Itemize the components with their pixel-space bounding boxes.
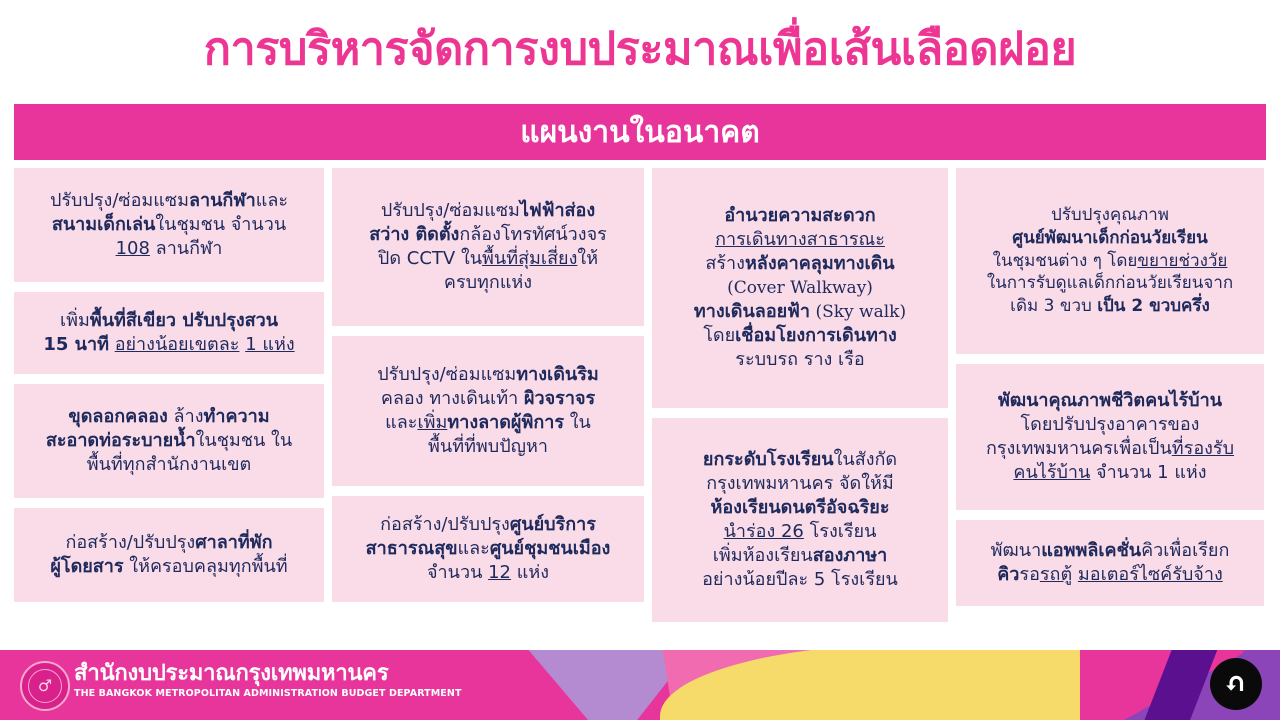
- card-text-run: ทางเดินริม: [516, 364, 598, 385]
- card-text-run: และ: [256, 190, 288, 211]
- card-line: ขุดลอกคลอง ล้างทำความ: [22, 405, 316, 429]
- card-line: เพิ่มพื้นที่สีเขียว ปรับปรุงสวน: [22, 309, 316, 333]
- card-text-run: อย่างน้อยเขตละ: [115, 334, 240, 355]
- card-canal-walkway[interactable]: ปรับปรุง/ซ่อมแซมทางเดินริมคลอง ทางเดินเท…: [332, 336, 644, 486]
- card-text-run: ล้าง: [168, 406, 204, 427]
- card-line: ปิด CCTV ในพื้นที่สุ่มเสี่ยงให้: [340, 247, 636, 271]
- card-text-run: ไฟฟ้าส่อง: [520, 200, 595, 221]
- card-text-run: เชื่อมโยงการเดินทาง: [735, 325, 897, 346]
- card-public-transport[interactable]: อำนวยความสะดวกการเดินทางสาธารณะสร้างหลัง…: [652, 168, 948, 408]
- card-text-run: สะอาดท่อระบายน้ำ: [46, 430, 196, 451]
- card-line: พื้นที่ทุกสำนักงานเขต: [22, 453, 316, 477]
- bma-seal-inner: ♂: [28, 669, 62, 703]
- card-text-run: จำนวน: [427, 562, 488, 583]
- card-line: ปรับปรุง/ซ่อมแซมไฟฟ้าส่อง: [340, 199, 636, 223]
- card-text-run: และ: [458, 538, 490, 559]
- card-text-run: มอเตอร์ไซค์รับจ้าง: [1078, 564, 1223, 585]
- card-line: เดิม 3 ขวบ เป็น 2 ขวบครึ่ง: [964, 295, 1256, 318]
- card-text-run: คิวเพื่อเรียก: [1141, 540, 1229, 561]
- card-line: สะอาดท่อระบายน้ำในชุมชน ใน: [22, 429, 316, 453]
- card-text-run: รอ: [1019, 564, 1039, 585]
- card-line: ศูนย์พัฒนาเด็กก่อนวัยเรียน: [964, 227, 1256, 250]
- card-text-run: กรุงเทพมหานคร จัดให้มี: [706, 473, 894, 494]
- card-text-run: ขยายช่วงวัย: [1137, 251, 1227, 271]
- card-queue-app[interactable]: พัฒนาแอพพลิเคชั่นคิวเพื่อเรียกคิวรอรถตู้…: [956, 520, 1264, 606]
- card-text-run: สนามเด็กเล่น: [52, 214, 156, 235]
- card-text-run: หลังคาคลุมทางเดิน: [745, 253, 895, 274]
- card-text-run: 12: [488, 562, 511, 583]
- card-text-run: พื้นที่สีเขียว ปรับปรุงสวน: [90, 310, 278, 331]
- card-text-run: ผิวจราจร: [524, 388, 595, 409]
- card-line: สนามเด็กเล่นในชุมชน จำนวน: [22, 213, 316, 237]
- card-text-run: ในชุมชนต่าง ๆ โดย: [993, 251, 1138, 271]
- card-text-run: เพิ่มห้องเรียน: [713, 545, 813, 566]
- card-line: กรุงเทพมหานครเพื่อเป็นที่รองรับ: [964, 437, 1256, 461]
- card-line: ยกระดับโรงเรียนในสังกัด: [660, 448, 940, 472]
- bma-seal-icon: ♂: [20, 661, 70, 711]
- card-line: โดยเชื่อมโยงการเดินทาง: [660, 324, 940, 348]
- card-text-run: เดิม 3 ขวบ: [1010, 296, 1097, 316]
- card-text-run: คนไร้บ้าน: [1013, 462, 1090, 483]
- card-line: ผู้โดยสาร ให้ครอบคลุมทุกพื้นที่: [22, 555, 316, 579]
- card-text-run: ที่รองรับ: [1172, 438, 1234, 459]
- card-line: จำนวน 12 แห่ง: [340, 561, 636, 585]
- page-title: การบริหารจัดการงบประมาณเพื่อเส้นเลือดฝอย: [0, 24, 1280, 74]
- card-line: คลอง ทางเดินเท้า ผิวจราจร: [340, 387, 636, 411]
- card-text-run: พื้นที่สุ่มเสี่ยง: [482, 248, 577, 269]
- card-text-run: ทางลาดผู้พิการ: [447, 412, 564, 433]
- column-1: ปรับปรุง/ซ่อมแซมลานกีฬาและสนามเด็กเล่นใน…: [14, 168, 324, 628]
- card-text-run: กล้องโทรทัศน์วงจร: [459, 224, 606, 245]
- card-text-run: นำร่อง 26: [724, 521, 804, 542]
- card-text-run: แอพพลิเคชั่น: [1041, 540, 1141, 561]
- card-text-run: โรงเรียน: [804, 521, 877, 542]
- card-text-run: ยกระดับโรงเรียน: [703, 449, 834, 470]
- footer-org-en: THE BANGKOK METROPOLITAN ADMINISTRATION …: [74, 688, 462, 699]
- card-text-run: ขุดลอกคลอง: [68, 406, 167, 427]
- card-line: การเดินทางสาธารณะ: [660, 228, 940, 252]
- card-text-run: ห้องเรียนดนตรีอัจฉริยะ: [711, 497, 890, 518]
- column-4: ปรับปรุงคุณภาพศูนย์พัฒนาเด็กก่อนวัยเรียน…: [956, 168, 1264, 628]
- card-school-upgrade[interactable]: ยกระดับโรงเรียนในสังกัดกรุงเทพมหานคร จัด…: [652, 418, 948, 622]
- card-text-run: ปรับปรุง/ซ่อมแซม: [381, 200, 520, 221]
- card-text-run: เพิ่ม: [417, 412, 447, 433]
- card-bus-shelter[interactable]: ก่อสร้าง/ปรับปรุงศาลาที่พักผู้โดยสาร ให้…: [14, 508, 324, 602]
- card-text-run: อำนวยความสะดวก: [724, 205, 875, 226]
- card-text-run: สาธารณสุข: [366, 538, 458, 559]
- card-text-run: พื้นที่ทุกสำนักงานเขต: [87, 454, 251, 475]
- card-line: โดยปรับปรุงอาคารของ: [964, 413, 1256, 437]
- card-line: ก่อสร้าง/ปรับปรุงศาลาที่พัก: [22, 531, 316, 555]
- card-line: ห้องเรียนดนตรีอัจฉริยะ: [660, 496, 940, 520]
- card-line: ปรับปรุง/ซ่อมแซมลานกีฬาและ: [22, 189, 316, 213]
- card-text-run: เพิ่ม: [60, 310, 90, 331]
- card-text-run: พัฒนา: [991, 540, 1042, 561]
- card-line: เพิ่มห้องเรียนสองภาษา: [660, 544, 940, 568]
- card-text-run: 1 แห่ง: [245, 334, 294, 355]
- card-text-run: ปิด CCTV: [378, 248, 461, 269]
- card-text-run: 108: [116, 238, 150, 259]
- column-2: ปรับปรุง/ซ่อมแซมไฟฟ้าส่องสว่าง ติดตั้งกล…: [332, 168, 644, 628]
- footer-bar: ♂ สำนักงบประมาณกรุงเทพมหานคร THE BANGKOK…: [0, 650, 1280, 720]
- card-line: กรุงเทพมหานคร จัดให้มี: [660, 472, 940, 496]
- card-sports-ground[interactable]: ปรับปรุง/ซ่อมแซมลานกีฬาและสนามเด็กเล่นใน…: [14, 168, 324, 282]
- card-text-run: การเดินทางสาธารณะ: [715, 229, 885, 250]
- card-text-run: ให้: [577, 248, 598, 269]
- card-text-run: ปรับปรุง/ซ่อมแซม: [377, 364, 516, 385]
- card-line: นำร่อง 26 โรงเรียน: [660, 520, 940, 544]
- card-text-run: ใน: [564, 412, 591, 433]
- section-header-label: แผนงานในอนาคต: [520, 109, 760, 156]
- card-line: พื้นที่ที่พบปัญหา: [340, 435, 636, 459]
- card-line: ปรับปรุงคุณภาพ: [964, 204, 1256, 227]
- card-text-run: จำนวน 1 แห่ง: [1090, 462, 1206, 483]
- card-line: (Cover Walkway): [660, 276, 940, 300]
- card-text-run: (Cover Walkway): [727, 278, 873, 298]
- card-canal-dredging[interactable]: ขุดลอกคลอง ล้างทำความสะอาดท่อระบายน้ำในช…: [14, 384, 324, 498]
- card-text-run: คลอง ทางเดินเท้า: [381, 388, 524, 409]
- card-text-run: ปรับปรุงคุณภาพ: [1051, 205, 1169, 225]
- card-line: สาธารณสุขและศูนย์ชุมชนเมือง: [340, 537, 636, 561]
- card-text-run: โดย: [703, 325, 735, 346]
- card-text-run: สว่าง ติดตั้ง: [369, 224, 459, 245]
- card-text-run: ในชุมชน จำนวน: [155, 214, 286, 235]
- footer-org-th: สำนักงบประมาณกรุงเทพมหานคร: [74, 662, 462, 686]
- card-line: ก่อสร้าง/ปรับปรุงศูนย์บริการ: [340, 513, 636, 537]
- card-text-run: ระบบรถ ราง เรือ: [735, 349, 864, 370]
- card-text-run: ในการรับดูแลเด็กก่อนวัยเรียนจาก: [987, 273, 1233, 293]
- back-button[interactable]: [1210, 658, 1262, 710]
- card-line: พัฒนาคุณภาพชีวิตคนไร้บ้าน: [964, 389, 1256, 413]
- card-text-run: ลานกีฬา: [150, 238, 222, 259]
- card-text-run: ศูนย์ชุมชนเมือง: [490, 538, 611, 559]
- card-text-run: สองภาษา: [813, 545, 888, 566]
- card-text-run: (Sky walk): [810, 302, 906, 322]
- card-text-run: รถตู้: [1040, 564, 1072, 585]
- card-text-run: พัฒนาคุณภาพชีวิตคนไร้บ้าน: [998, 390, 1222, 411]
- card-text-run: ครบทุกแห่ง: [444, 272, 532, 293]
- card-line: สร้างหลังคาคลุมทางเดิน: [660, 252, 940, 276]
- card-line: คนไร้บ้าน จำนวน 1 แห่ง: [964, 461, 1256, 485]
- card-text-run: ในสังกัด: [834, 449, 897, 470]
- card-text-run: และ: [385, 412, 417, 433]
- card-text-run: ศูนย์พัฒนาเด็กก่อนวัยเรียน: [1012, 228, 1207, 248]
- card-line: คิวรอรถตู้ มอเตอร์ไซค์รับจ้าง: [964, 563, 1256, 587]
- card-line: พัฒนาแอพพลิเคชั่นคิวเพื่อเรียก: [964, 539, 1256, 563]
- card-text-run: ทางเดินลอยฟ้า: [694, 301, 810, 322]
- card-text-run: ก่อสร้าง/ปรับปรุง: [380, 514, 510, 535]
- card-line: 15 นาที อย่างน้อยเขตละ 1 แห่ง: [22, 333, 316, 357]
- card-text-run: โดยปรับปรุงอาคารของ: [1021, 414, 1200, 435]
- card-line: ครบทุกแห่ง: [340, 271, 636, 295]
- back-arrow-icon: [1221, 669, 1251, 699]
- card-homeless-quality[interactable]: พัฒนาคุณภาพชีวิตคนไร้บ้านโดยปรับปรุงอาคา…: [956, 364, 1264, 510]
- card-line: อำนวยความสะดวก: [660, 204, 940, 228]
- card-text-run: 15 นาที: [43, 334, 109, 355]
- card-line: สว่าง ติดตั้งกล้องโทรทัศน์วงจร: [340, 223, 636, 247]
- column-3: อำนวยความสะดวกการเดินทางสาธารณะสร้างหลัง…: [652, 168, 948, 628]
- card-text-run: กรุงเทพมหานครเพื่อเป็น: [986, 438, 1172, 459]
- card-line: และเพิ่มทางลาดผู้พิการ ใน: [340, 411, 636, 435]
- card-text-run: พื้นที่ที่พบปัญหา: [428, 436, 548, 457]
- card-text-run: ในชุมชน ใน: [196, 430, 293, 451]
- cards-grid: ปรับปรุง/ซ่อมแซมลานกีฬาและสนามเด็กเล่นใน…: [14, 168, 1266, 628]
- card-text-run: ใน: [461, 248, 482, 269]
- card-text-run: ก่อสร้าง/ปรับปรุง: [65, 532, 195, 553]
- card-line: ระบบรถ ราง เรือ: [660, 348, 940, 372]
- card-text-run: อย่างน้อยปีละ 5 โรงเรียน: [702, 569, 898, 590]
- card-text-run: ทำความ: [203, 406, 269, 427]
- card-street-light-cctv[interactable]: ปรับปรุง/ซ่อมแซมไฟฟ้าส่องสว่าง ติดตั้งกล…: [332, 168, 644, 326]
- card-line: ปรับปรุง/ซ่อมแซมทางเดินริม: [340, 363, 636, 387]
- card-text-run: ผู้โดยสาร: [50, 556, 123, 577]
- card-text-run: ศูนย์บริการ: [510, 514, 596, 535]
- section-header-bar: แผนงานในอนาคต: [14, 104, 1266, 160]
- card-text-run: สร้าง: [705, 253, 745, 274]
- card-text-run: เป็น 2 ขวบครึ่ง: [1097, 296, 1210, 316]
- card-text-run: ให้ครอบคลุมทุกพื้นที่: [124, 556, 288, 577]
- card-line: ในชุมชนต่าง ๆ โดยขยายช่วงวัย: [964, 250, 1256, 273]
- card-line: อย่างน้อยปีละ 5 โรงเรียน: [660, 568, 940, 592]
- card-line: 108 ลานกีฬา: [22, 237, 316, 261]
- card-green-space[interactable]: เพิ่มพื้นที่สีเขียว ปรับปรุงสวน15 นาที อ…: [14, 292, 324, 374]
- card-line: ทางเดินลอยฟ้า (Sky walk): [660, 300, 940, 324]
- card-text-run: ลานกีฬา: [189, 190, 256, 211]
- card-preschool-center[interactable]: ปรับปรุงคุณภาพศูนย์พัฒนาเด็กก่อนวัยเรียน…: [956, 168, 1264, 354]
- card-text-run: คิว: [997, 564, 1019, 585]
- card-text-run: แห่ง: [511, 562, 549, 583]
- footer-org-block: สำนักงบประมาณกรุงเทพมหานคร THE BANGKOK M…: [74, 662, 462, 699]
- card-text-run: ปรับปรุง/ซ่อมแซม: [50, 190, 189, 211]
- card-line: ในการรับดูแลเด็กก่อนวัยเรียนจาก: [964, 272, 1256, 295]
- card-text-run: ศาลาที่พัก: [195, 532, 272, 553]
- card-health-center[interactable]: ก่อสร้าง/ปรับปรุงศูนย์บริการสาธารณสุขและ…: [332, 496, 644, 602]
